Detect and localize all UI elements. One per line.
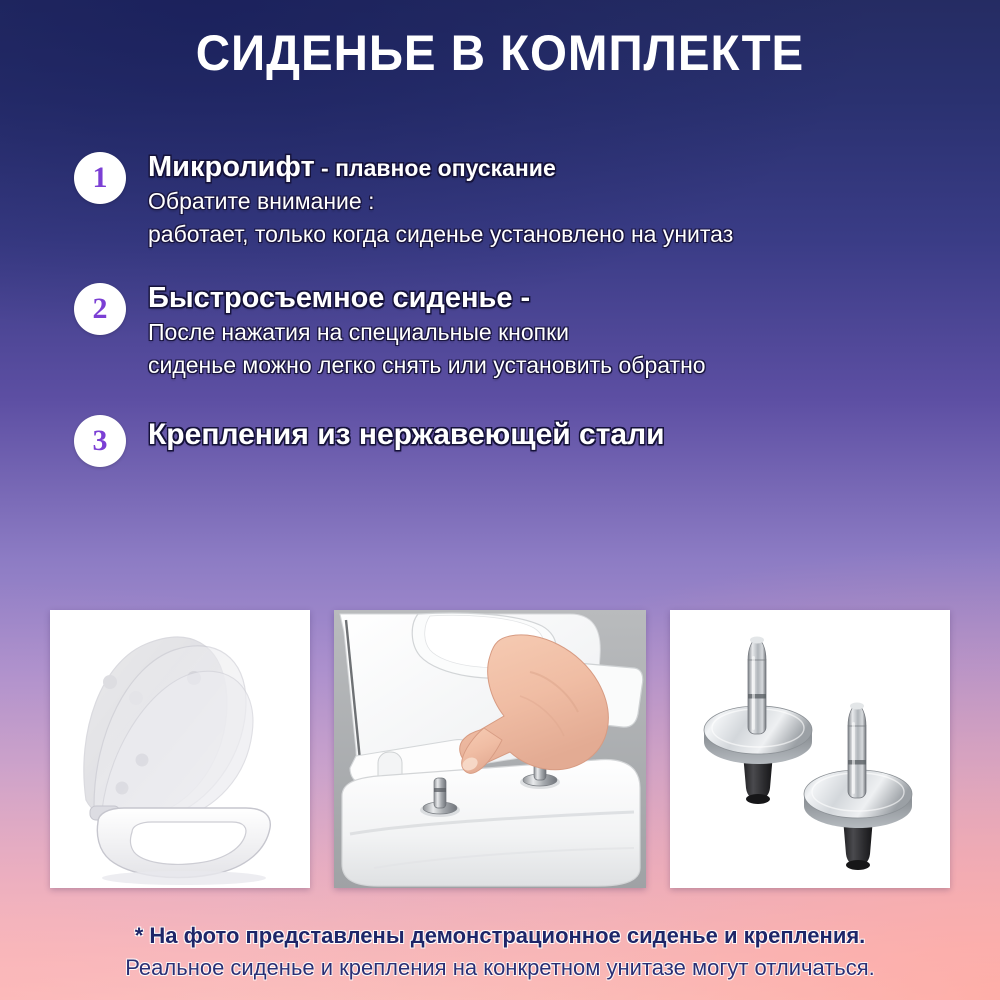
feature-note-1a: Обратите внимание : [148,185,733,218]
footer-line-2: Реальное сиденье и крепления на конкретн… [0,952,1000,984]
feature-body-2: Быстросъемное сиденье - После нажатия на… [148,281,706,382]
feature-note-2b: сиденье можно легко снять или установить… [148,349,706,382]
feature-body-3: Крепления из нержавеющей стали [148,413,665,454]
stainless-fasteners-illustration [670,610,950,888]
footer-disclaimer: * На фото представлены демонстрационное … [0,920,1000,984]
page-title: СИДЕНЬЕ В КОМПЛЕКТЕ [25,26,975,81]
feature-note-2a: После нажатия на специальные кнопки [148,316,706,349]
feature-heading-3: Крепления из нержавеющей стали [148,417,665,454]
feature-heading-strong-1: Микролифт [148,151,315,183]
panel-soft-close-seat [50,610,310,888]
feature-list: 1 Микролифт - плавное опускание Обратите… [74,150,974,485]
infographic-root: СИДЕНЬЕ В КОМПЛЕКТЕ 1 Микролифт - плавно… [0,0,1000,1000]
feature-item-3: 3 Крепления из нержавеющей стали [74,413,974,467]
feature-badge-2: 2 [74,283,126,335]
footer-line-1: * На фото представлены демонстрационное … [0,920,1000,952]
feature-heading-2: Быстросъемное сиденье - [148,281,706,316]
soft-close-seat-illustration [50,610,310,888]
quick-release-seat-illustration [334,610,646,888]
photo-panel-row [50,610,950,890]
feature-item-2: 2 Быстросъемное сиденье - После нажатия … [74,281,974,382]
feature-badge-1: 1 [74,152,126,204]
feature-body-1: Микролифт - плавное опускание Обратите в… [148,150,733,251]
feature-note-1b: работает, только когда сиденье установле… [148,218,733,251]
feature-heading-rest-1: - плавное опускание [315,155,556,181]
feature-badge-3: 3 [74,415,126,467]
panel-quick-release [334,610,646,888]
feature-item-1: 1 Микролифт - плавное опускание Обратите… [74,150,974,251]
feature-heading-1: Микролифт - плавное опускание [148,150,733,185]
feature-heading-strong-2: Быстросъемное сиденье - [148,282,530,314]
panel-stainless-fasteners [670,610,950,888]
